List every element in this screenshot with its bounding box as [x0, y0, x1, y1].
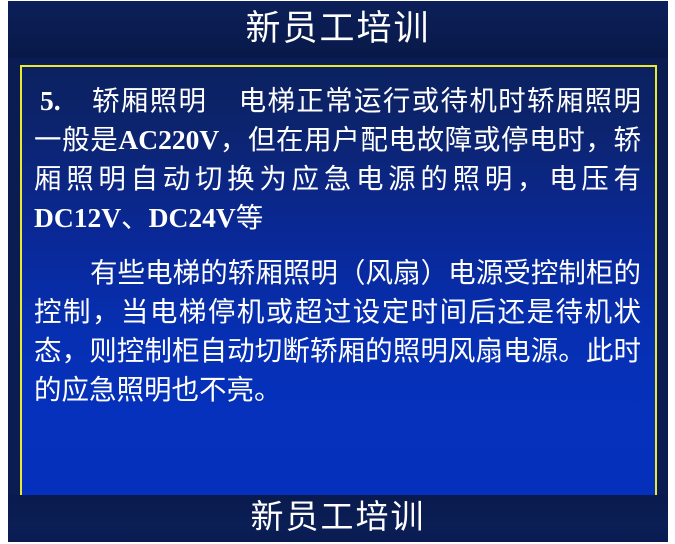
slide-footer-band: 新员工培训	[8, 495, 668, 542]
voltage-ac220v: AC220V	[118, 124, 219, 155]
slide-header-title: 新员工培训	[8, 5, 668, 53]
item-heading: 轿厢照明	[91, 85, 208, 116]
paragraph-control-cabinet: 有些电梯的轿厢照明（风扇）电源受控制柜的控制，当电梯停机或超过设定时间后还是待机…	[34, 253, 641, 409]
voltage-dc24v: DC24V	[149, 202, 236, 233]
slide-header-band: 新员工培训	[8, 1, 668, 58]
paragraph-car-lighting: 5.轿厢照明电梯正常运行或待机时轿厢照明一般是AC220V，但在用户配电故障或停…	[34, 81, 641, 237]
content-body: 5.轿厢照明电梯正常运行或待机时轿厢照明一般是AC220V，但在用户配电故障或停…	[22, 67, 655, 409]
slide-content-panel: 5.轿厢照明电梯正常运行或待机时轿厢照明一般是AC220V，但在用户配电故障或停…	[20, 65, 657, 497]
voltage-dc12v: DC12V	[34, 202, 121, 233]
presentation-slide: 新员工培训 5.轿厢照明电梯正常运行或待机时轿厢照明一般是AC220V，但在用户…	[8, 1, 668, 542]
slide-footer-title: 新员工培训	[8, 495, 668, 541]
paragraph1-text-3: 等	[236, 202, 264, 233]
item-number: 5.	[40, 85, 61, 116]
voltage-separator: 、	[121, 202, 149, 233]
